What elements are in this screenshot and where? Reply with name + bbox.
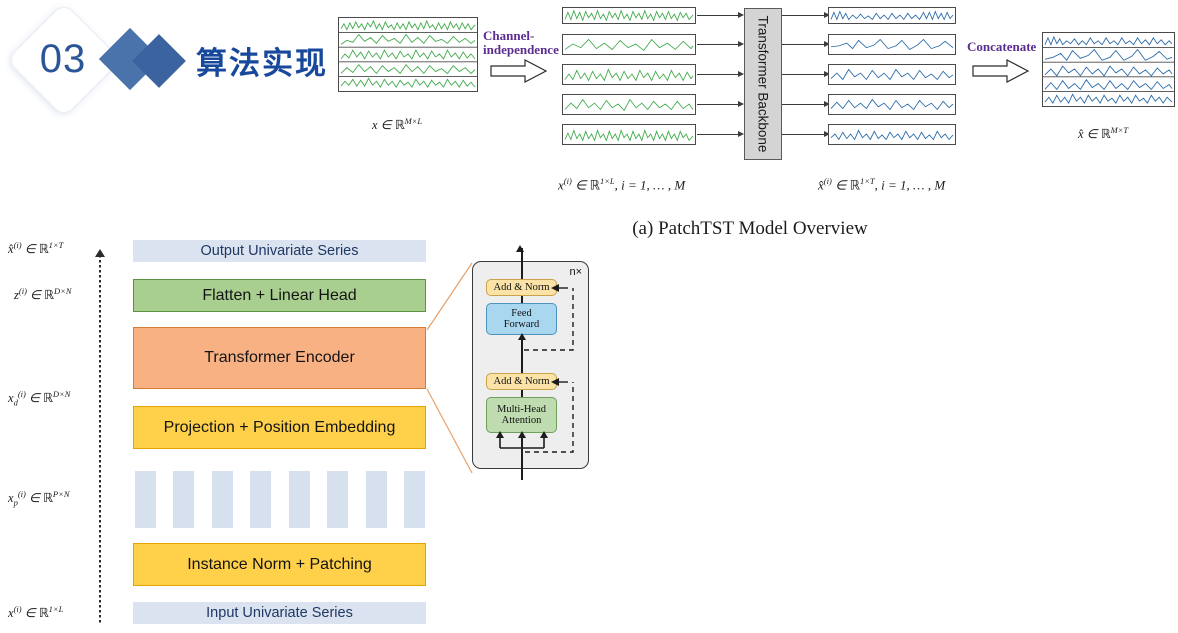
- univariate-input-series: [562, 124, 696, 145]
- input-tensor-label: x ∈ ℝM×L: [372, 116, 422, 133]
- univariate-input-series: [562, 34, 696, 55]
- connector-line: [782, 134, 824, 135]
- patch: [250, 471, 271, 528]
- connector-line: [782, 15, 824, 16]
- stack-axis-label: x̂(i) ∈ ℝ1×T: [8, 240, 63, 257]
- stack-axis-label: xd(i) ∈ ℝD×N: [8, 389, 70, 408]
- channel-independence-label: Channel- independence: [483, 29, 573, 57]
- univariate-output-series: [828, 7, 956, 24]
- stack-axis-label: xp(i) ∈ ℝP×N: [8, 489, 70, 508]
- patch: [135, 471, 156, 528]
- encoder-flow-arrow-icon: [516, 245, 524, 252]
- encoder-mha-line2: Attention: [502, 415, 542, 426]
- patch: [289, 471, 310, 528]
- block-instance-norm-patching: Instance Norm + Patching: [133, 543, 426, 586]
- transformer-backbone-block: Transformer Backbone: [744, 8, 782, 160]
- block-input-univariate-series: Input Univariate Series: [133, 602, 426, 624]
- univariate-input-tensor-label: x(i) ∈ ℝ1×L, i = 1, … , M: [558, 176, 685, 193]
- output-tensor-label: x̂ ∈ ℝM×T: [1078, 125, 1128, 142]
- stack-axis-label: z(i) ∈ ℝD×N: [14, 286, 72, 303]
- encoder-add-norm-top: Add & Norm: [486, 279, 557, 296]
- encoder-detail-panel: n× Add & Norm Feed Forward Add & Norm Mu…: [472, 261, 589, 469]
- connector-line: [697, 44, 738, 45]
- connector-line: [697, 104, 738, 105]
- patch: [212, 471, 233, 528]
- output-multivariate-series: [1042, 32, 1175, 107]
- encoder-mha-line1: Multi-Head: [497, 404, 546, 415]
- patch: [404, 471, 425, 528]
- encoder-ff-line1: Feed: [511, 308, 531, 319]
- connector-line: [697, 74, 738, 75]
- page-title: 算法实现: [196, 38, 328, 83]
- concatenate-label: Concatenate: [967, 40, 1036, 54]
- univariate-input-series: [562, 94, 696, 115]
- univariate-input-series: [562, 64, 696, 85]
- block-flatten-linear-head: Flatten + Linear Head: [133, 279, 426, 312]
- block-transformer-encoder: Transformer Encoder: [133, 327, 426, 389]
- axis-dotted-line: [99, 255, 101, 625]
- encoder-ff-line2: Forward: [504, 319, 540, 330]
- patch: [366, 471, 387, 528]
- connector-line: [782, 44, 824, 45]
- connector-line: [782, 74, 824, 75]
- univariate-output-series: [828, 124, 956, 145]
- transformer-backbone-label: Transformer Backbone: [756, 16, 771, 153]
- encoder-repeat-label: n×: [569, 266, 582, 278]
- concatenate-arrow-icon: [971, 58, 1031, 84]
- patch-row: [135, 471, 425, 528]
- stack-axis-label: x(i) ∈ ℝ1×L: [8, 604, 63, 621]
- connector-line: [697, 15, 738, 16]
- channel-independence-arrow-icon: [489, 58, 549, 84]
- univariate-input-series: [562, 7, 696, 24]
- encoder-multi-head-attention: Multi-Head Attention: [486, 397, 557, 433]
- patch: [327, 471, 348, 528]
- patch: [173, 471, 194, 528]
- univariate-output-tensor-label: x̂(i) ∈ ℝ1×T, i = 1, … , M: [818, 176, 945, 193]
- univariate-output-series: [828, 34, 956, 55]
- encoder-feed-forward: Feed Forward: [486, 303, 557, 335]
- connector-line: [697, 134, 738, 135]
- univariate-output-series: [828, 64, 956, 85]
- input-multivariate-series: [338, 17, 478, 92]
- univariate-output-series: [828, 94, 956, 115]
- encoder-add-norm-bottom: Add & Norm: [486, 373, 557, 390]
- figure-caption: (a) PatchTST Model Overview: [600, 218, 900, 240]
- axis-arrow-icon: [95, 249, 105, 257]
- connector-line: [782, 104, 824, 105]
- block-projection-position-embedding: Projection + Position Embedding: [133, 406, 426, 449]
- block-output-univariate-series: Output Univariate Series: [133, 240, 426, 262]
